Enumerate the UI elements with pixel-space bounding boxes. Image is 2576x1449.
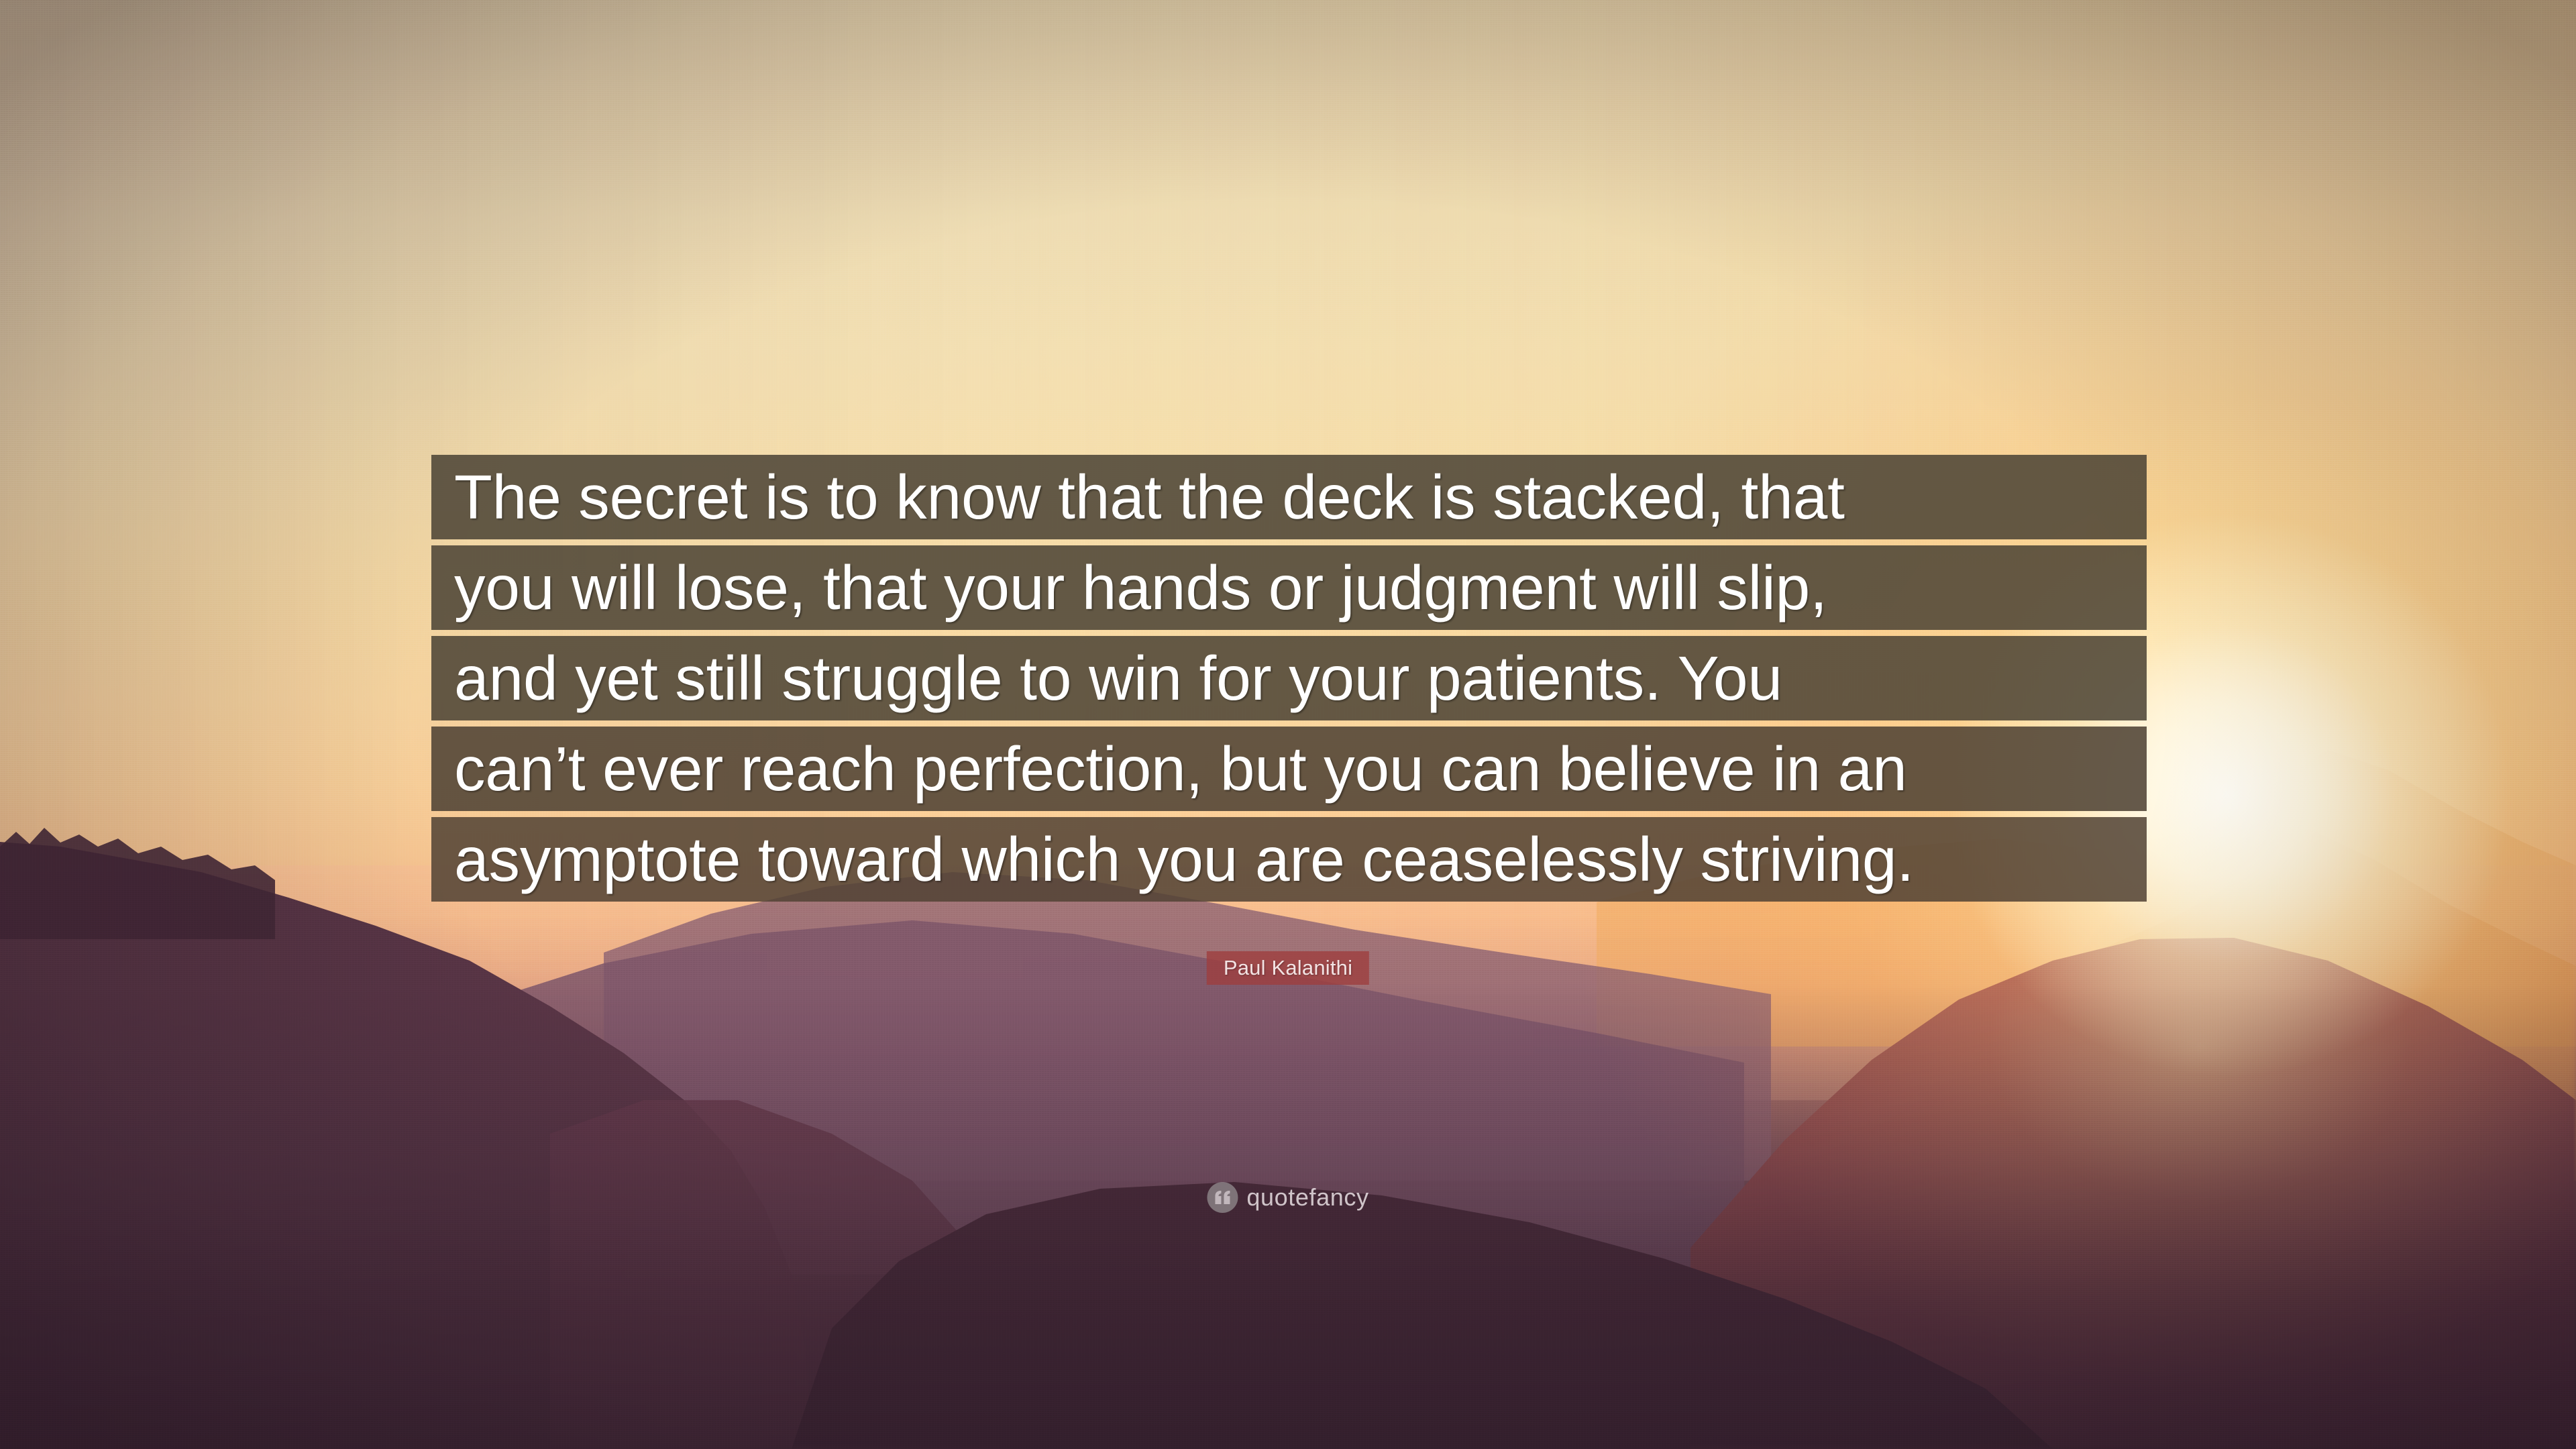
quotefancy-brand-label: quotefancy — [1246, 1184, 1368, 1211]
quote-line: can’t ever reach perfection, but you can… — [431, 727, 2147, 811]
author-attribution: Paul Kalanithi — [1207, 951, 1369, 985]
quote-text-block: The secret is to know that the deck is s… — [431, 455, 2147, 902]
quote-line: asymptote toward which you are ceaseless… — [431, 817, 2147, 902]
quotefancy-watermark[interactable]: quotefancy — [1207, 1182, 1368, 1213]
quote-poster: The secret is to know that the deck is s… — [0, 0, 2576, 1449]
quote-line: and yet still struggle to win for your p… — [431, 636, 2147, 720]
quote-line: The secret is to know that the deck is s… — [431, 455, 2147, 539]
quote-line: you will lose, that your hands or judgme… — [431, 545, 2147, 630]
quote-mark-icon — [1207, 1182, 1238, 1213]
